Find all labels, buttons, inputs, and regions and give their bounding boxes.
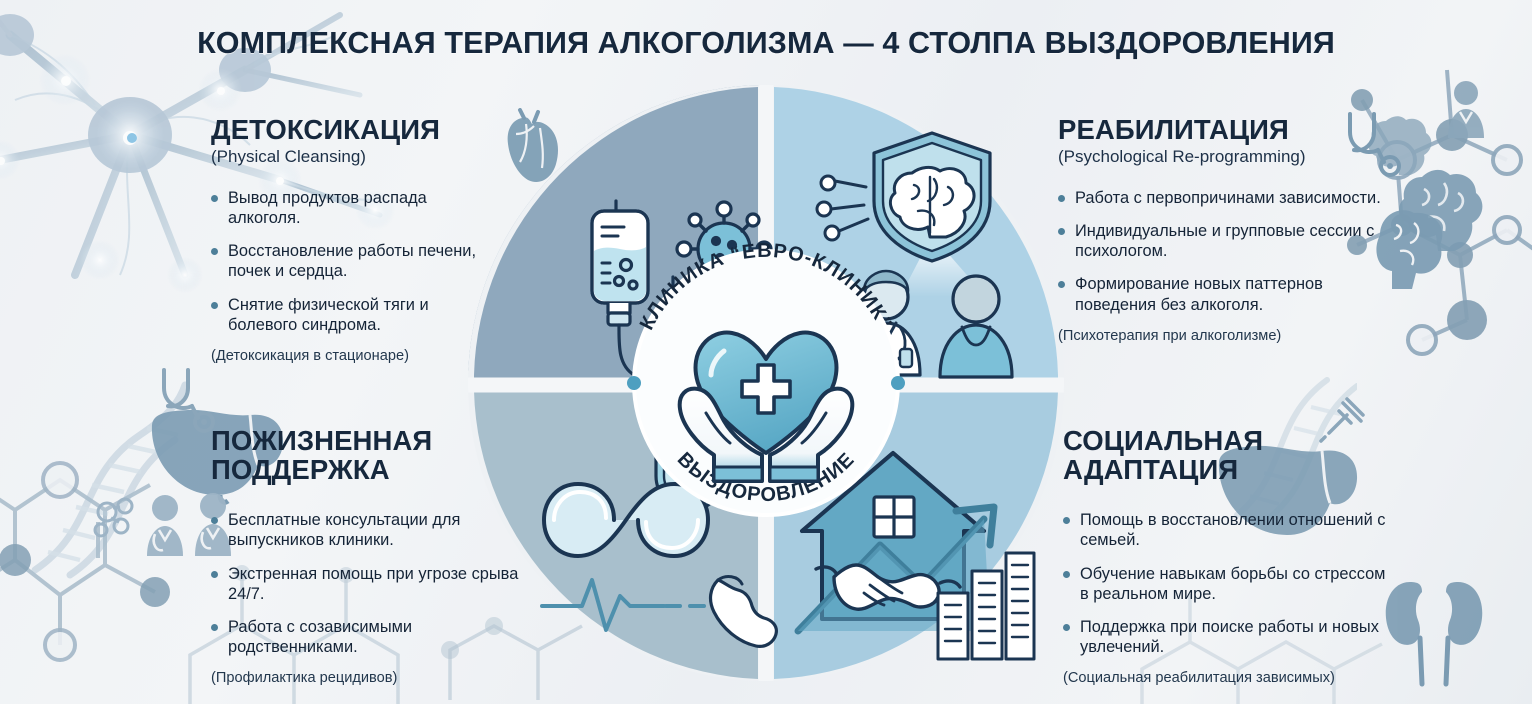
list-item: Обучение навыкам борьбы со стрессом в ре… (1063, 564, 1393, 604)
list-item: Восстановление работы печени, почек и се… (211, 241, 483, 281)
list-item: Поддержка при поиске работы и новых увле… (1063, 617, 1393, 657)
block-rehab-bullet-list: Работа с первопричинами зависимости. Инд… (1058, 188, 1388, 315)
molecule-hexagon-pattern (0, 360, 185, 690)
block-rehab-subheading: (Psychological Re-programming) (1058, 147, 1388, 167)
emblem-dot-right (891, 376, 905, 390)
block-rehab-caption: (Психотерапия при алкоголизме) (1058, 328, 1388, 346)
block-detox: ДЕТОКСИКАЦИЯ (Physical Cleansing) Вывод … (211, 115, 483, 365)
list-item: Формирование новых паттернов поведения б… (1058, 274, 1388, 314)
stethoscope-icon (150, 362, 230, 434)
wheel-svg: КЛИНИКА “ЕВРО-КЛИНИК” ВЫЗДОРОВЛЕНИЕ (466, 83, 1066, 683)
recovery-wheel: КЛИНИКА “ЕВРО-КЛИНИК” ВЫЗДОРОВЛЕНИЕ (466, 83, 1066, 683)
block-social-adaptation: СОЦИАЛЬНАЯ АДАПТАЦИЯ Помощь в восстановл… (1063, 426, 1393, 688)
block-lifelong-support-bullet-list: Бесплатные консультации для выпускников … (211, 510, 523, 657)
brain-icon (1392, 155, 1502, 255)
block-rehab: РЕАБИЛИТАЦИЯ (Psychological Re-programmi… (1058, 115, 1388, 345)
page-title: КОМПЛЕКСНАЯ ТЕРАПИЯ АЛКОГОЛИЗМА — 4 СТОЛ… (0, 26, 1532, 61)
block-lifelong-support-caption: (Профилактика рецидивов) (211, 670, 523, 688)
block-lifelong-support: ПОЖИЗНЕННАЯ ПОДДЕРЖКА Бесплатные консуль… (211, 426, 523, 688)
block-lifelong-support-heading: ПОЖИЗНЕННАЯ ПОДДЕРЖКА (211, 426, 523, 484)
emblem-dot-left (627, 376, 641, 390)
list-item: Экстренная помощь при угрозе срыва 24/7. (211, 564, 523, 604)
list-item: Помощь в восстановлении отношений с семь… (1063, 510, 1393, 550)
block-detox-bullet-list: Вывод продуктов распада алкоголя. Восста… (211, 188, 483, 335)
block-detox-caption: (Детоксикация в стационаре) (211, 348, 483, 366)
list-item: Снятие физической тяги и болевого синдро… (211, 295, 483, 335)
list-item: Бесплатные консультации для выпускников … (211, 510, 523, 550)
block-social-adaptation-bullet-list: Помощь в восстановлении отношений с семь… (1063, 510, 1393, 657)
block-detox-heading: ДЕТОКСИКАЦИЯ (211, 115, 483, 144)
block-social-adaptation-heading: СОЦИАЛЬНАЯ АДАПТАЦИЯ (1063, 426, 1393, 484)
block-social-adaptation-caption: (Социальная реабилитация зависимых) (1063, 670, 1393, 688)
infographic-poster: КОМПЛЕКСНАЯ ТЕРАПИЯ АЛКОГОЛИЗМА — 4 СТОЛ… (0, 0, 1532, 704)
list-item: Индивидуальные и групповые сессии с псих… (1058, 221, 1388, 261)
block-rehab-heading: РЕАБИЛИТАЦИЯ (1058, 115, 1388, 144)
center-emblem: КЛИНИКА “ЕВРО-КЛИНИК” ВЫЗДОРОВЛЕНИЕ (627, 240, 905, 515)
doctor-figures-icon (1432, 78, 1502, 140)
list-item: Работа с созависимыми родственниками. (211, 617, 523, 657)
dna-helix-icon (10, 380, 200, 580)
block-detox-subheading: (Physical Cleansing) (211, 147, 483, 167)
list-item: Вывод продуктов распада алкоголя. (211, 188, 483, 228)
list-item: Работа с первопричинами зависимости. (1058, 188, 1388, 208)
